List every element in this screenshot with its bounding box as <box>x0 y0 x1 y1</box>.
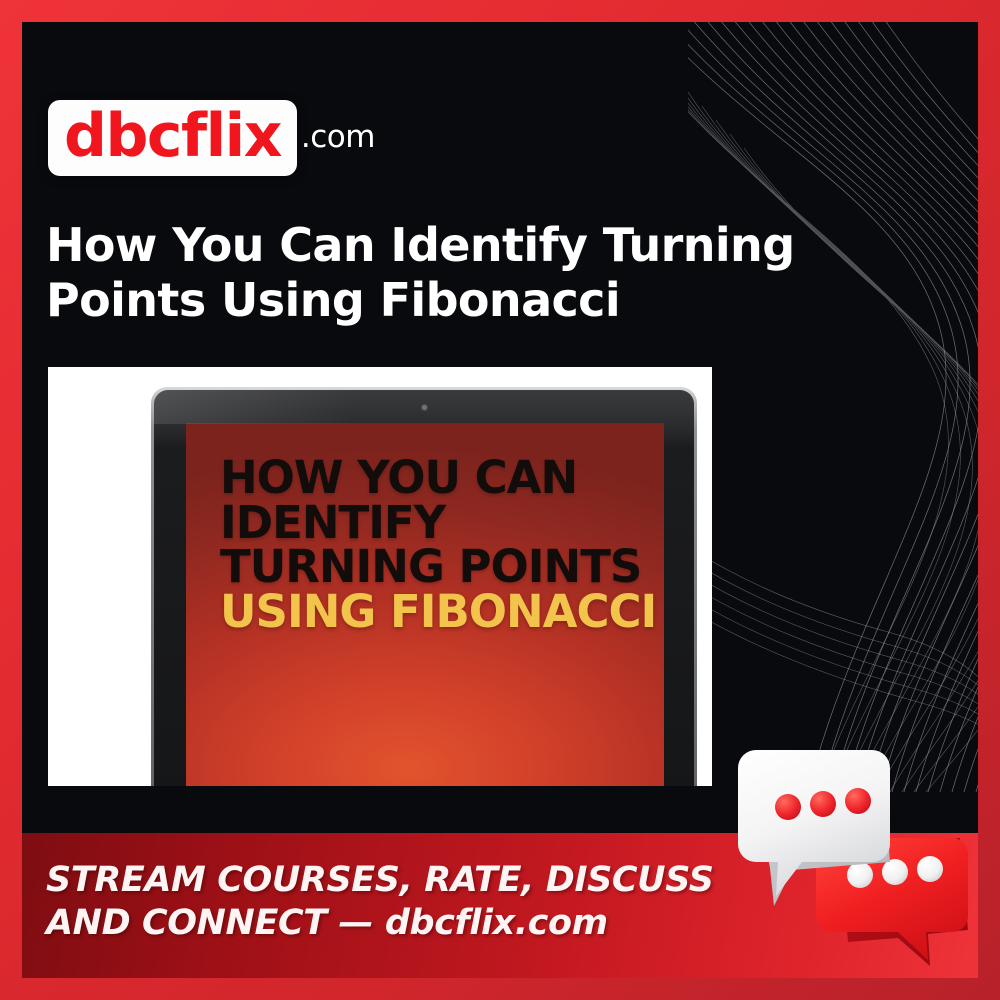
screen-line-2: IDENTIFY <box>220 501 656 546</box>
logo-box: dbcflix <box>48 100 297 176</box>
screen-line-accent: USING FIBONACCI <box>220 590 656 635</box>
wave-lines-decoration <box>688 22 978 792</box>
webcam-dot-icon <box>422 405 427 410</box>
logo-domain-suffix: .com <box>301 119 375 157</box>
page-title: How You Can Identify Turning Points Usin… <box>46 218 836 328</box>
brand-logo[interactable]: dbcflix .com <box>48 100 375 176</box>
course-thumbnail-card: HOW YOU CAN IDENTIFY TURNING POINTS USIN… <box>48 367 712 786</box>
laptop-mockup: HOW YOU CAN IDENTIFY TURNING POINTS USIN… <box>151 387 697 786</box>
laptop-screen: HOW YOU CAN IDENTIFY TURNING POINTS USIN… <box>186 423 664 786</box>
poster-canvas: dbcflix .com How You Can Identify Turnin… <box>22 22 978 978</box>
logo-wordmark: dbcflix <box>64 106 281 166</box>
screen-line-1: HOW YOU CAN <box>220 456 656 501</box>
banner-tagline: STREAM COURSES, RATE, DISCUSS AND CONNEC… <box>46 859 714 944</box>
screen-text-block: HOW YOU CAN IDENTIFY TURNING POINTS USIN… <box>186 423 656 634</box>
laptop-lid: HOW YOU CAN IDENTIFY TURNING POINTS USIN… <box>151 387 697 786</box>
poster-frame: dbcflix .com How You Can Identify Turnin… <box>0 0 1000 1000</box>
screen-line-3: TURNING POINTS <box>220 545 656 590</box>
laptop-bezel: HOW YOU CAN IDENTIFY TURNING POINTS USIN… <box>154 390 694 786</box>
bottom-banner: STREAM COURSES, RATE, DISCUSS AND CONNEC… <box>22 833 978 978</box>
